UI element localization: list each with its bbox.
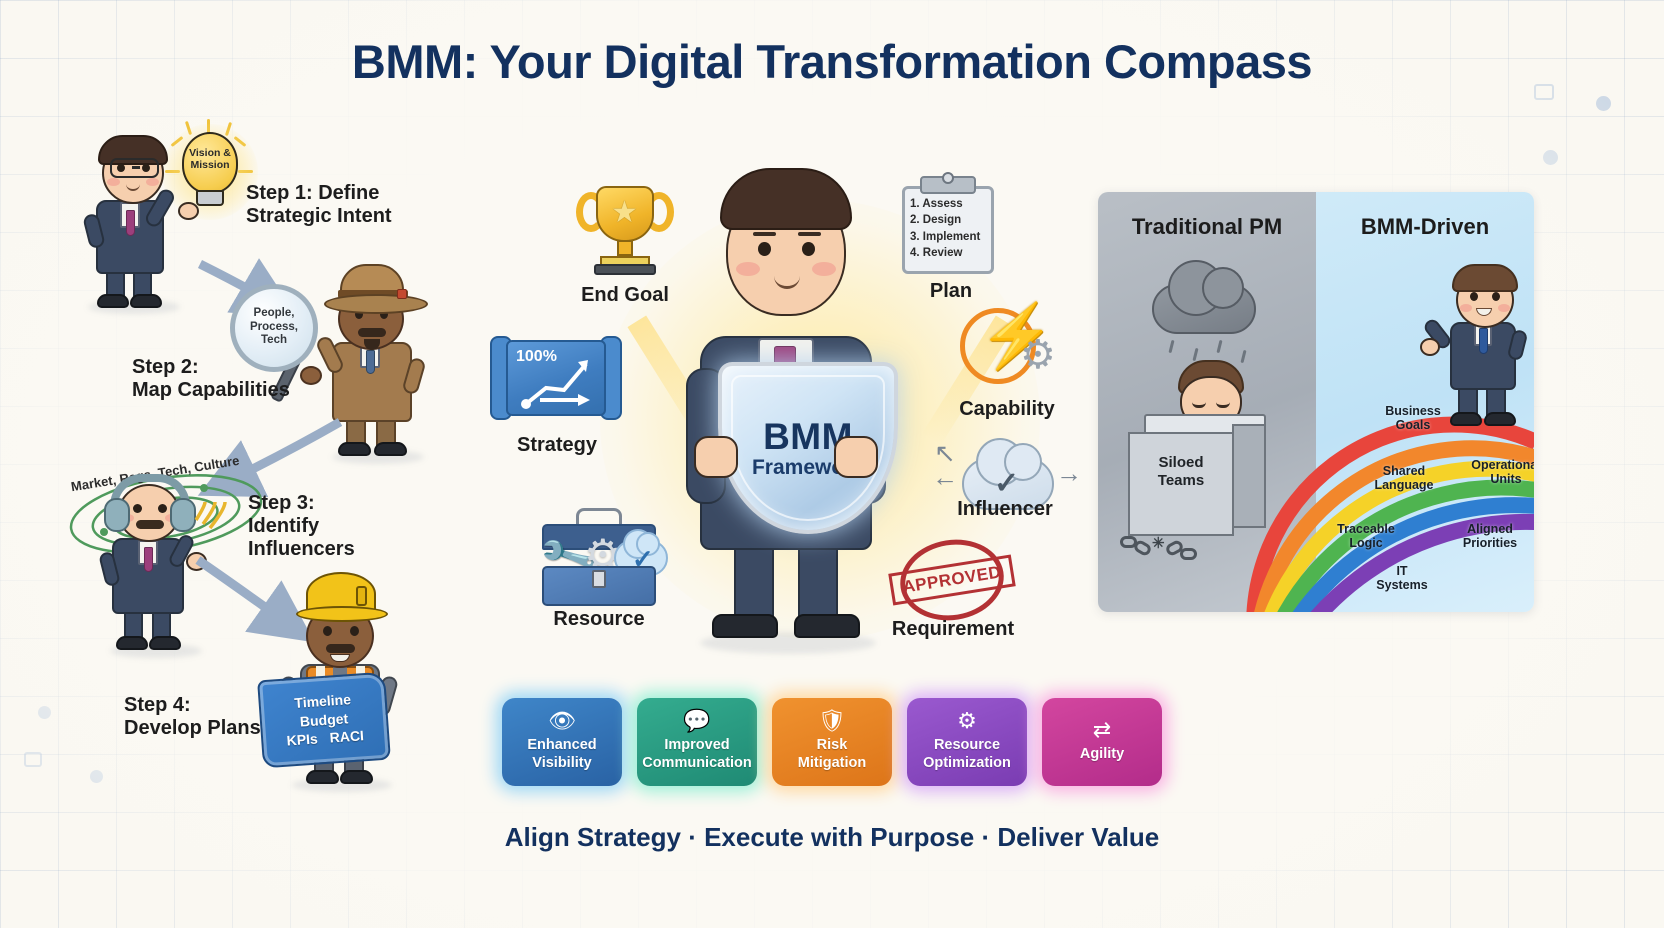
chain-link-icon	[1180, 548, 1197, 560]
figure-tie	[144, 547, 153, 572]
plan-item: 2. Design	[910, 212, 980, 228]
figure-tie	[126, 210, 135, 236]
rainbow-label-operational-units: Operational Units	[1464, 458, 1534, 487]
figure-shoe	[116, 636, 148, 650]
end-goal-icon: ★	[570, 182, 680, 278]
eye-icon: 👁	[548, 710, 576, 732]
rainbow-label-aligned-priorities: Aligned Priorities	[1448, 522, 1532, 551]
benefit-pill-risk[interactable]: 🛡 Risk Mitigation	[772, 698, 892, 786]
hero-hair	[720, 168, 852, 230]
chain-link-icon	[1132, 539, 1153, 558]
figure-shoe	[130, 294, 162, 308]
hero-hand	[834, 436, 878, 478]
benefit-pills: 👁 Enhanced Visibility 💬 Improved Communi…	[0, 698, 1664, 786]
benefit-pill-resource[interactable]: ⚙ Resource Optimization	[907, 698, 1027, 786]
trophy-star-icon: ★	[611, 198, 638, 228]
rainbow-label-it-systems: IT Systems	[1366, 564, 1438, 593]
figure-tie	[1479, 328, 1488, 354]
figure-shoe	[374, 442, 407, 456]
figure-moustache	[136, 520, 164, 529]
figure-eye	[350, 626, 359, 636]
figure-hand	[300, 366, 322, 385]
headphone-cup-left	[104, 498, 130, 532]
capability-icon: ⚡ ⚙	[956, 304, 1066, 396]
hat-ribbon	[397, 289, 407, 299]
check-icon: ✓	[994, 466, 1019, 501]
plan-label: Plan	[856, 280, 1046, 303]
chat-icon: 💬	[683, 710, 710, 732]
rainbow-label-traceable-logic: Traceable Logic	[1322, 522, 1410, 551]
figure-moustache	[326, 644, 355, 653]
plan-icon: 1. Assess 2. Design 3. Implement 4. Revi…	[896, 172, 1006, 278]
plan-item: 1. Assess	[910, 196, 980, 212]
benefit-label: Agility	[1080, 746, 1124, 763]
arrow-right-icon: →	[1056, 460, 1082, 486]
benefit-label: Improved Communication	[642, 737, 752, 772]
step2-label: Step 2: Map Capabilities	[132, 356, 290, 402]
rainbow-label-business-goals: Business Goals	[1368, 404, 1458, 433]
gear-icon: ⚙	[957, 710, 977, 732]
comparison-bmm: BMM-Driven	[1316, 192, 1534, 612]
figure-shoe	[1484, 412, 1516, 426]
hard-hat-ridge	[356, 586, 367, 606]
strategy-label: Strategy	[462, 434, 652, 457]
headphone-cup-right	[170, 498, 196, 532]
swap-icon: ⇄	[1093, 719, 1111, 741]
figure-eye	[1492, 292, 1500, 301]
rain-drop	[1216, 340, 1222, 353]
figure-blush	[107, 178, 120, 186]
figure-hand	[178, 202, 199, 220]
hero-eye	[802, 242, 815, 256]
rain-drop	[1168, 340, 1174, 353]
rain-cloud-icon	[1152, 284, 1256, 334]
influencer-label: Influencer	[910, 498, 1100, 521]
figure-hand	[1420, 338, 1440, 356]
rainbow-label-shared-language: Shared Language	[1358, 464, 1450, 493]
figure-blush	[146, 178, 159, 186]
chain-break-spark: ✳	[1152, 534, 1165, 552]
background-dot	[1596, 96, 1611, 111]
bulb-label: Vision & Mission	[184, 148, 236, 171]
hero-eye	[758, 242, 771, 256]
scroll-body: 100%	[506, 340, 606, 416]
gear-icon: ⚙	[1020, 332, 1056, 378]
resource-icon: 🔧 ⚙ ✓	[530, 506, 670, 610]
figure-shoe	[149, 636, 181, 650]
page-title: BMM: Your Digital Transformation Compass	[0, 34, 1664, 89]
tagline: Align Strategy · Execute with Purpose · …	[0, 822, 1664, 853]
benefit-label: Resource Optimization	[923, 737, 1011, 772]
plan-items: 1. Assess 2. Design 3. Implement 4. Revi…	[910, 196, 980, 261]
hero-blush	[812, 262, 836, 276]
end-goal-label: End Goal	[530, 284, 720, 307]
strategy-arrows-icon	[508, 342, 608, 418]
hero-blush	[736, 262, 760, 276]
lightbulb-icon: Vision & Mission	[182, 132, 238, 194]
toolbox-latch	[592, 570, 606, 588]
figure-blush	[1498, 304, 1510, 312]
figure-hair	[1452, 264, 1518, 292]
benefit-pill-communication[interactable]: 💬 Improved Communication	[637, 698, 757, 786]
figure-moustache	[358, 328, 386, 337]
comparison-panel: Traditional PM Siloed Teams ✳ BMM-Dri	[1098, 192, 1534, 612]
hard-hat-brim	[296, 606, 388, 622]
background-dot	[1543, 150, 1558, 165]
shield-icon: 🛡	[818, 710, 846, 732]
figure-tie	[366, 350, 375, 374]
figure-eye	[323, 626, 332, 636]
magnifier-label: People, Process, Tech	[235, 307, 313, 348]
arrow-left-icon: ←	[932, 464, 958, 490]
trophy-cup: ★	[596, 186, 654, 242]
bmm-driven-heading: BMM-Driven	[1316, 214, 1534, 240]
sound-wave-icon	[194, 500, 226, 540]
trophy-base	[594, 264, 656, 275]
check-icon: ✓	[632, 544, 654, 575]
plan-item: 3. Implement	[910, 229, 980, 245]
hero-shoe	[794, 614, 860, 638]
trophy-stem	[617, 240, 633, 256]
hero-shoe	[712, 614, 778, 638]
requirement-label: Requirement	[858, 618, 1048, 641]
hero-hand	[694, 436, 738, 478]
figure-eye	[1470, 292, 1478, 301]
strategy-icon: 100%	[490, 332, 624, 428]
hero-eyebrow	[798, 232, 821, 236]
benefit-label: Enhanced Visibility	[527, 737, 596, 772]
traditional-heading: Traditional PM	[1098, 214, 1316, 240]
hat-brim	[324, 294, 428, 314]
stamp-text: APPROVED	[889, 555, 1016, 606]
step1-label: Step 1: Define Strategic Intent	[246, 182, 392, 228]
benefit-pill-visibility[interactable]: 👁 Enhanced Visibility	[502, 698, 622, 786]
clipboard-ring	[942, 172, 954, 184]
figure-glasses-bridge	[132, 166, 140, 169]
hero-eyebrow	[753, 232, 776, 236]
benefit-pill-agility[interactable]: ⇄ Agility	[1042, 698, 1162, 786]
plan-item: 4. Review	[910, 245, 980, 261]
capability-label: Capability	[912, 398, 1102, 421]
figure-blush	[1460, 304, 1472, 312]
resource-label: Resource	[504, 608, 694, 631]
figure-shoe	[97, 294, 129, 308]
bulb-base	[196, 190, 224, 206]
benefit-label: Risk Mitigation	[798, 737, 866, 772]
